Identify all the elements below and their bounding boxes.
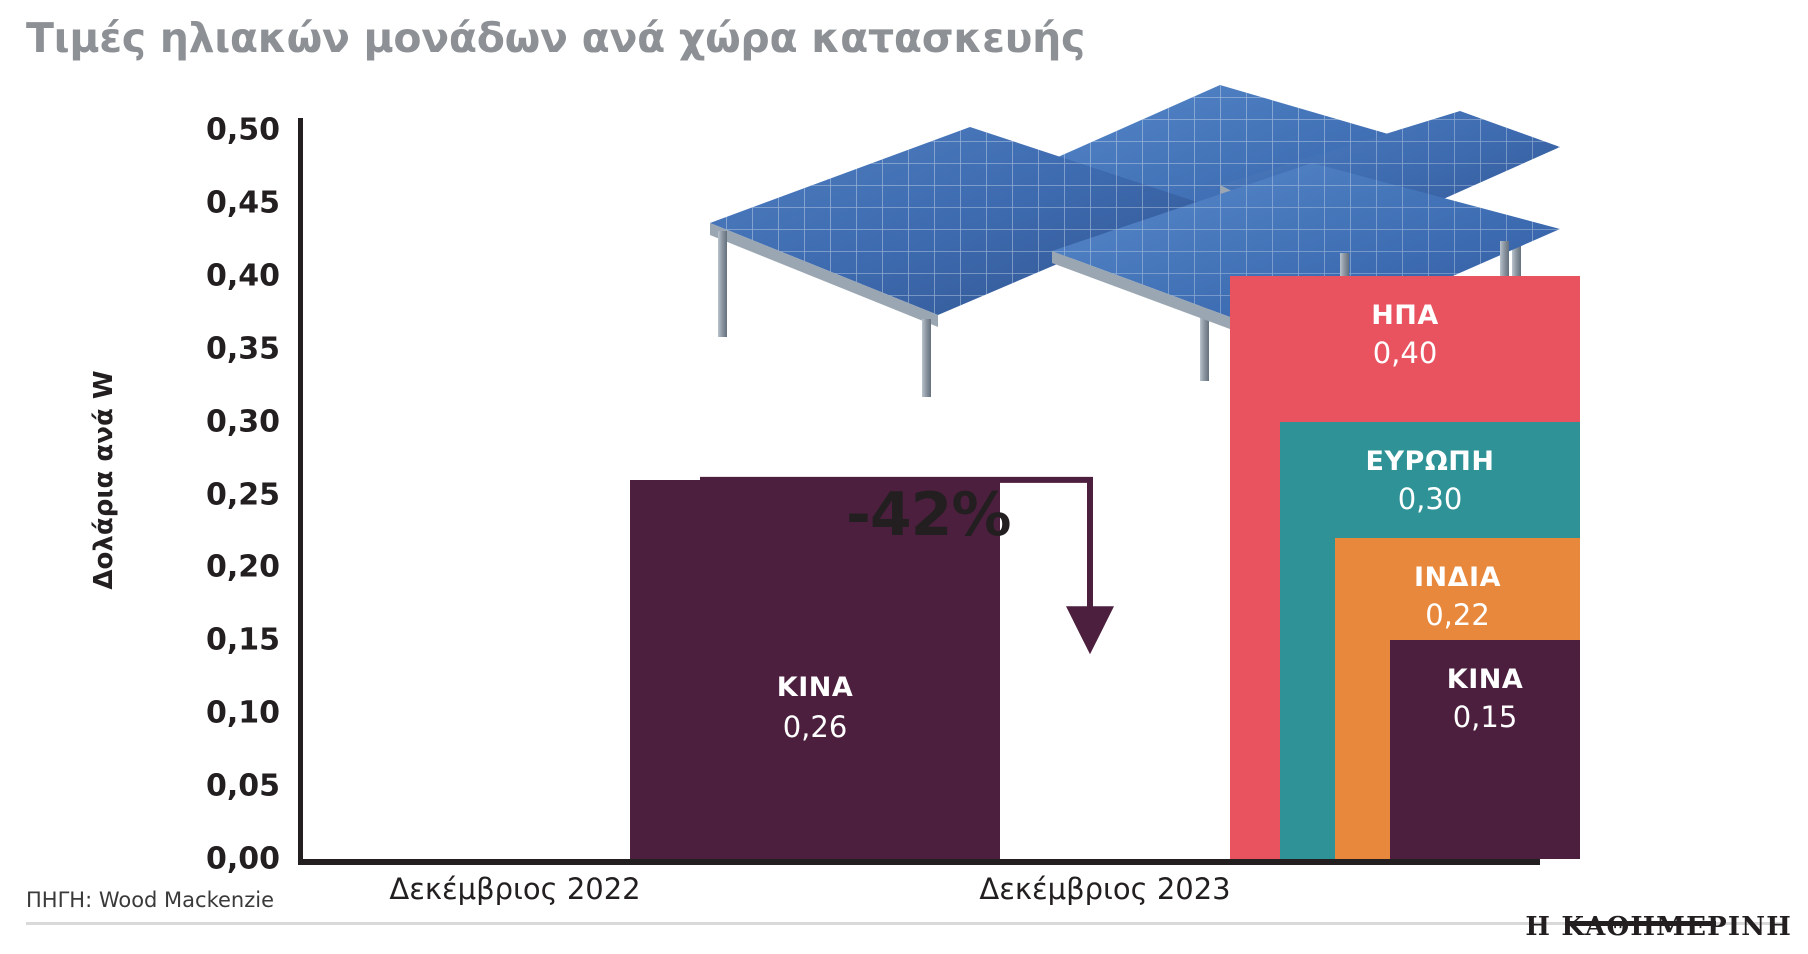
- bar-value: 0,22: [1335, 598, 1580, 632]
- source-note: ΠΗΓΗ: Wood Mackenzie: [26, 888, 274, 912]
- bar-value: 0,40: [1230, 336, 1580, 370]
- y-tick-label: 0,40: [160, 258, 280, 293]
- bar-label: ΚΙΝΑ: [1390, 664, 1580, 695]
- change-annotation-label: -42%: [846, 480, 1011, 550]
- y-tick-label: 0,35: [160, 331, 280, 366]
- page-title: Τιμές ηλιακών μονάδων ανά χώρα κατασκευή…: [26, 14, 1085, 62]
- y-tick-label: 0,50: [160, 113, 280, 148]
- y-axis-title: Δολάρια ανά W: [89, 370, 119, 589]
- bar-label: ΕΥΡΩΠΗ: [1280, 446, 1580, 477]
- x-axis-label-2022: Δεκέμβριος 2022: [250, 872, 780, 906]
- y-tick-label: 0,10: [160, 696, 280, 731]
- bar-label: ΗΠΑ: [1230, 300, 1580, 331]
- y-tick-label: 0,30: [160, 404, 280, 439]
- y-tick-label: 0,20: [160, 550, 280, 585]
- bar-label: ΙΝΔΙΑ: [1335, 562, 1580, 593]
- footer-divider: [26, 922, 1786, 925]
- y-tick-label: 0,45: [160, 185, 280, 220]
- y-tick-label: 0,05: [160, 769, 280, 804]
- bar-value: 0,15: [1390, 700, 1580, 734]
- bar-value: 0,30: [1280, 482, 1580, 516]
- y-tick-label: 0,25: [160, 477, 280, 512]
- bar-label: ΚΙΝΑ: [630, 672, 1000, 703]
- y-axis-ticks: 0,500,450,400,350,300,250,200,150,100,05…: [150, 120, 280, 860]
- publisher-logo: Η ΚΑΘΗΜΕΡΙΝΗ: [1525, 912, 1792, 942]
- y-tick-label: 0,15: [160, 623, 280, 658]
- x-axis-label-2023: Δεκέμβριος 2023: [870, 872, 1340, 906]
- bar-κινα: ΚΙΝΑ0,15: [1390, 640, 1580, 859]
- bar-value: 0,26: [630, 710, 1000, 744]
